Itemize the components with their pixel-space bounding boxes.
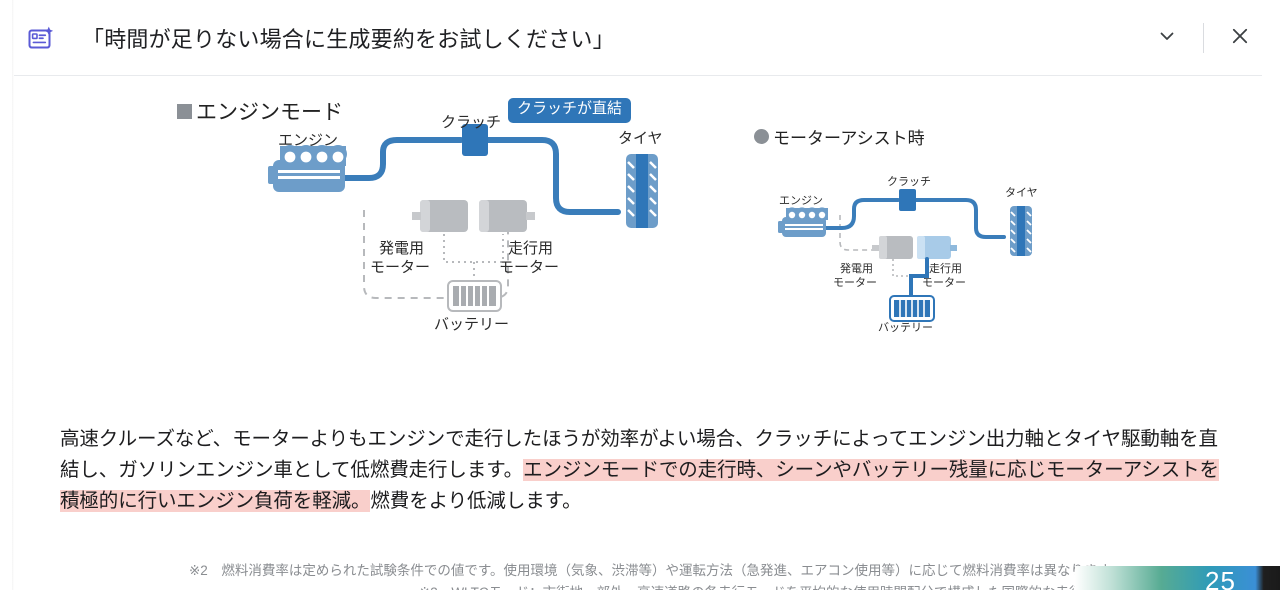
clutch-block-right — [899, 189, 916, 211]
right-label-battery: バッテリー — [878, 322, 933, 335]
battery-icon-right — [890, 296, 934, 321]
close-icon — [1229, 25, 1251, 50]
page-title: 「時間が足りない場合に生成要約をお試しください」 — [82, 0, 615, 75]
generative-summary-icon — [24, 22, 58, 56]
tire-icon-right — [1010, 206, 1032, 256]
body-text-plain-2: 燃費をより低減します。 — [370, 490, 581, 512]
engine-icon-right — [778, 207, 828, 237]
right-label-engine: エンジン — [779, 195, 823, 208]
header-actions — [1145, 0, 1262, 75]
slide-content: エンジンモード — [14, 76, 1262, 590]
collapse-button[interactable] — [1145, 16, 1189, 60]
chevron-down-icon — [1156, 25, 1178, 50]
footnote-line-1: ※2 燃料消費率は定められた試験条件での値です。使用環境（気象、渋滞等）や運転方… — [189, 560, 1123, 583]
footnote-line-2: ※3 WLTCモード：市街地、郊外、高速道路の各走行モードを平均的な使用時間配分… — [419, 582, 1136, 590]
page-number: 25 — [1205, 566, 1236, 590]
right-label-tire: タイヤ — [1005, 187, 1038, 200]
panel-header: 「時間が足りない場合に生成要約をお試しください」 — [0, 0, 1280, 75]
generator-motor-icon-right — [872, 236, 913, 259]
close-button[interactable] — [1218, 16, 1262, 60]
right-label-generator-motor-l2: モーター — [833, 277, 877, 290]
summary-panel: 「時間が足りない場合に生成要約をお試しください」 — [0, 0, 1280, 590]
drive-motor-icon-right — [917, 236, 957, 259]
body-paragraph: 高速クルーズなど、モーターよりもエンジンで走行したほうが効率がよい場合、クラッチ… — [60, 424, 1220, 517]
right-label-drive-motor-l1: 走行用 — [929, 263, 962, 276]
page-number-bar — [1075, 566, 1280, 590]
right-label-clutch: クラッチ — [887, 176, 931, 189]
right-label-generator-motor-l1: 発電用 — [840, 263, 873, 276]
right-label-drive-motor-l2: モーター — [922, 277, 966, 290]
header-divider — [1203, 23, 1204, 53]
